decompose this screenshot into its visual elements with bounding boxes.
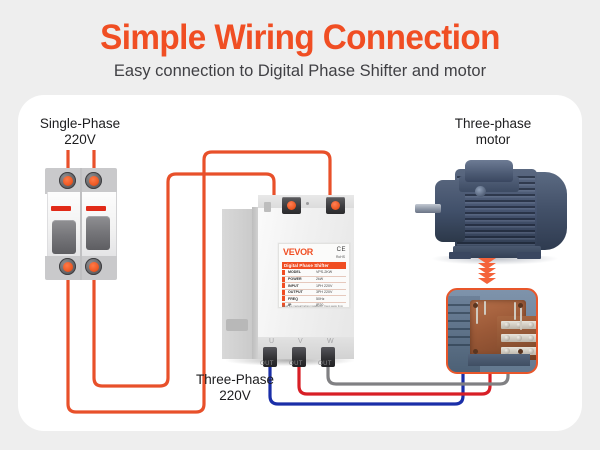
terminal-screw xyxy=(528,322,534,328)
three-phase-motor xyxy=(413,160,573,265)
motor-label: Three-phase motor xyxy=(433,116,553,148)
box-corner-screw xyxy=(473,303,478,308)
device-note-u: OUT xyxy=(260,361,274,367)
breaker-indicator-l xyxy=(51,206,71,211)
breaker-indicator-n xyxy=(86,206,106,211)
breaker-terminal-top-n xyxy=(85,172,102,189)
spec-row: FREQ 50Hz xyxy=(282,296,346,303)
breaker-terminal-bot-n xyxy=(85,258,102,275)
motor-terminal-box xyxy=(446,288,538,374)
spec-key: POWER xyxy=(288,277,302,281)
spec-value: 3PH 220V xyxy=(316,290,332,294)
device-label-u: U xyxy=(269,338,274,345)
single-phase-voltage: 220V xyxy=(64,132,96,147)
device-note-w: OUT xyxy=(318,361,332,367)
spec-value: 50Hz xyxy=(316,297,324,301)
terminal-screw xyxy=(516,335,522,341)
device-top-nub xyxy=(264,202,271,212)
single-phase-label: Single-Phase 220V xyxy=(20,116,140,148)
sticker-title-bar: Digital Phase Shifter xyxy=(282,262,346,269)
motor-label-line1: Three-phase xyxy=(455,116,532,131)
device-note-v: OUT xyxy=(289,361,303,367)
circuit-breaker xyxy=(45,168,117,280)
sticker-fine-print: Read the manual before installation. Kee… xyxy=(282,305,346,308)
motor-junction-box xyxy=(465,160,513,182)
certification-marks: CE xyxy=(337,247,346,253)
internal-lead xyxy=(514,302,516,320)
terminal-screw xyxy=(504,322,510,328)
spec-row: OUTPUT 3PH 220V xyxy=(282,290,346,297)
diagram-canvas: Simple Wiring Connection Easy connection… xyxy=(0,0,600,450)
internal-lead xyxy=(484,301,486,315)
motor-label-line2: motor xyxy=(476,132,511,147)
three-phase-text: Three-Phase xyxy=(196,372,274,387)
single-phase-text: Single-Phase xyxy=(40,116,120,131)
terminal-screw xyxy=(504,335,510,341)
motor-shaft xyxy=(415,204,441,213)
motor-cable-gland xyxy=(475,186,486,197)
spec-value: 2kW xyxy=(316,277,323,281)
three-phase-label: Three-Phase 220V xyxy=(175,372,295,404)
device-label-v: V xyxy=(298,338,303,345)
sticker-title: Digital Phase Shifter xyxy=(284,263,329,268)
spec-key: INPUT xyxy=(288,284,299,288)
spec-row: POWER 2kW xyxy=(282,277,346,284)
terminal-box-lid-edge xyxy=(468,354,530,366)
device-mount-tab xyxy=(226,319,248,331)
connection-arrow-icon xyxy=(478,258,500,284)
box-corner-screw xyxy=(518,303,523,308)
motor-foot-left xyxy=(449,252,471,259)
spec-key: OUTPUT xyxy=(288,290,303,294)
spec-table: MODEL VPS-2KW POWER 2kW INPUT 1PH 220V O… xyxy=(282,270,346,308)
device-status-dot xyxy=(306,202,309,205)
terminal-screw xyxy=(528,335,534,341)
spec-value: 1PH 220V xyxy=(316,284,332,288)
device-terminal-l xyxy=(282,197,301,214)
spec-value: VPS-2KW xyxy=(316,270,332,274)
breaker-lever-n[interactable] xyxy=(86,216,110,250)
three-phase-voltage: 220V xyxy=(219,388,251,403)
spec-key: FREQ xyxy=(288,297,298,301)
breaker-terminal-bot-l xyxy=(59,258,76,275)
device-label-w: W xyxy=(327,338,334,345)
device-terminal-n xyxy=(326,197,345,214)
device-rating-label: VEVOR CE RoHS Digital Phase Shifter MODE… xyxy=(278,243,350,308)
terminal-box-cavity xyxy=(470,300,526,358)
vevor-brand: VEVOR xyxy=(283,247,313,257)
digital-phase-shifter: U V W OUT OUT OUT VEVOR CE RoHS Digital … xyxy=(222,195,354,367)
motor-foot-right xyxy=(517,252,541,259)
spec-row: INPUT 1PH 220V xyxy=(282,283,346,290)
breaker-lever-l[interactable] xyxy=(52,220,76,254)
certification-marks-secondary: RoHS xyxy=(336,255,345,259)
breaker-pole-divider xyxy=(80,168,82,280)
breaker-terminal-top-l xyxy=(59,172,76,189)
spec-row: MODEL VPS-2KW xyxy=(282,270,346,277)
spec-key: MODEL xyxy=(288,270,301,274)
